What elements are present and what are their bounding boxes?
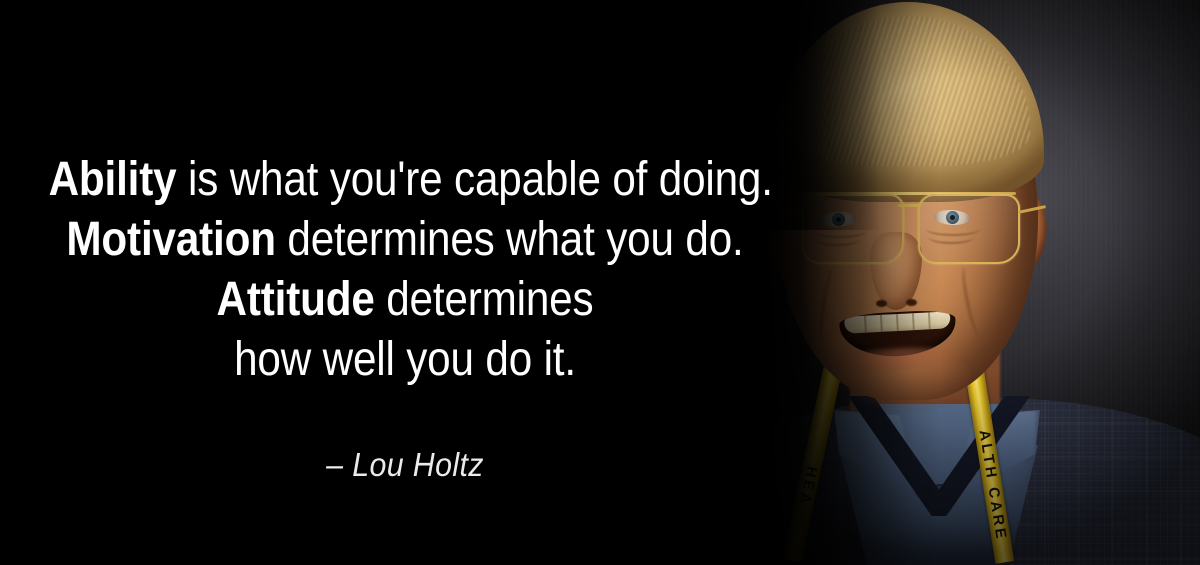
quote-line-2: Motivation determines what you do. bbox=[49, 210, 762, 270]
quote-line-2-lead: Motivation bbox=[66, 213, 275, 266]
quote-line-1: Ability is what you're capable of doing. bbox=[49, 150, 762, 210]
quote-line-4: how well you do it. bbox=[49, 330, 762, 390]
glasses-bridge bbox=[898, 204, 920, 207]
nostril-right bbox=[906, 299, 917, 306]
quote-line-3-rest: determines bbox=[375, 273, 594, 326]
nostril-left bbox=[876, 300, 887, 307]
quote-line-3-lead: Attitude bbox=[217, 273, 375, 326]
quote-line-3: Attitude determines bbox=[49, 270, 762, 330]
teeth bbox=[844, 311, 951, 334]
quote-line-2-rest: determines what you do. bbox=[276, 213, 744, 266]
quote-attribution: – Lou Holtz bbox=[32, 446, 777, 484]
quote-text-pane: Ability is what you're capable of doing.… bbox=[0, 0, 830, 565]
quote-line-1-lead: Ability bbox=[49, 153, 177, 206]
quote-lines: Ability is what you're capable of doing.… bbox=[0, 150, 810, 390]
glasses-lens-right bbox=[918, 194, 1020, 264]
quote-line-4-rest: how well you do it. bbox=[234, 333, 576, 386]
quote-card: HEA ALTH CARE bbox=[0, 0, 1200, 565]
quote-line-1-rest: is what you're capable of doing. bbox=[176, 153, 772, 206]
